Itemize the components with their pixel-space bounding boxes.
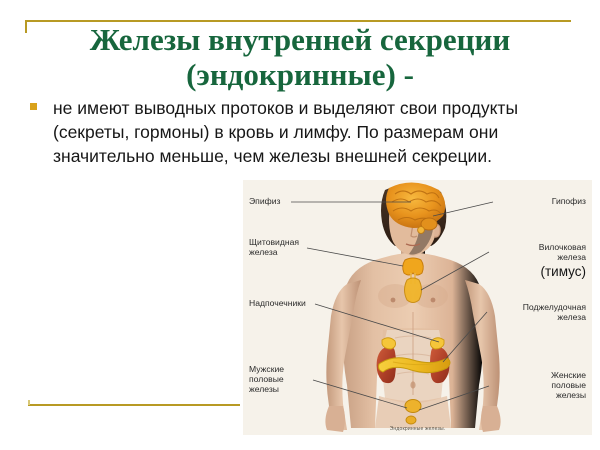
endocrine-glands-figure: Эпифиз Щитовидная железа Надпочечники Му…	[243, 180, 592, 435]
slide-title: Железы внутренней секреции (эндокринные)…	[12, 22, 588, 92]
label-thymus-gland: Вилочковая железа	[466, 242, 586, 262]
square-bullet-icon	[30, 103, 37, 110]
label-thyroid-gland: Щитовидная железа	[249, 237, 299, 257]
bottom-divider-rule	[28, 404, 240, 406]
label-male-gonads: Мужские половые железы	[249, 364, 284, 394]
label-female-gonads: Женские половые железы	[466, 370, 586, 400]
bottom-divider-tick	[28, 400, 30, 405]
bullet-list-item: не имеют выводных протоков и выделяют св…	[30, 96, 530, 168]
label-adrenal-glands: Надпочечники	[249, 298, 306, 308]
label-pituitary-gland: Гипофиз	[466, 196, 586, 206]
label-epiphysis: Эпифиз	[249, 196, 280, 206]
label-pancreas: Поджелудочная железа	[466, 302, 586, 322]
slide-canvas: Железы внутренней секреции (эндокринные)…	[0, 0, 600, 450]
label-thymus-alternate: (тимус)	[466, 264, 586, 280]
figure-caption: Эндокринные железы.	[243, 426, 592, 432]
bullet-item-text: не имеют выводных протоков и выделяют св…	[53, 96, 530, 168]
